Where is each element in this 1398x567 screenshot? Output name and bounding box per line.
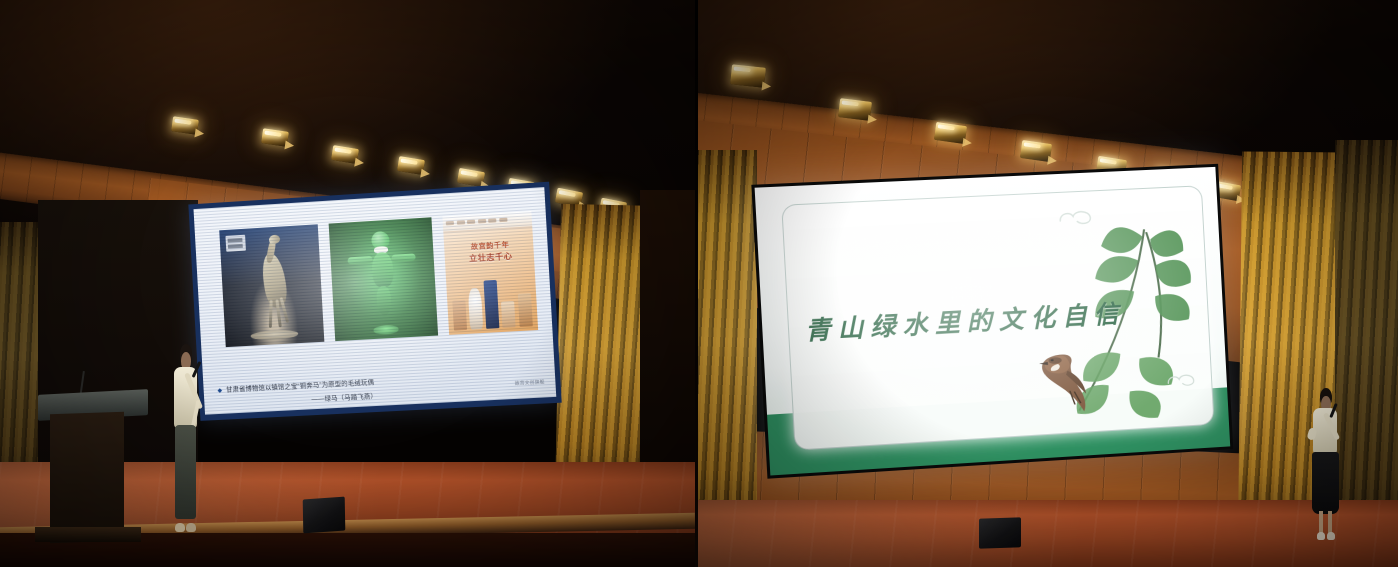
presenter-right-shoe <box>1317 532 1325 540</box>
product-item <box>484 280 500 328</box>
presenter-right-leg <box>1328 511 1332 534</box>
webpage-headline: 故宫韵千年 立壮志千心 <box>456 240 525 266</box>
stage-floor-monitor <box>303 497 346 534</box>
stage-light-1 <box>730 64 766 87</box>
lectern <box>28 392 148 542</box>
product-item <box>517 293 532 327</box>
left-projection-screen[interactable]: 故宫韵千年 立壮志千心 ◆ <box>188 182 561 421</box>
left-slide-text-block: ◆ 甘肃省博物馆以镇馆之宝“铜奔马”为原型的毛绒玩偶 ——绿马（马踏飞燕） <box>217 371 545 408</box>
presenter-left-shoe <box>175 523 185 532</box>
tv-channel-badge <box>225 235 246 253</box>
two-panel-photo-composite: 故宫韵千年 立壮志千心 ◆ <box>0 0 1398 567</box>
presenter-left-trousers <box>175 425 197 519</box>
stage-light-2 <box>838 98 872 121</box>
product-item <box>468 288 484 330</box>
panel-divider <box>695 0 698 567</box>
plush-torso <box>371 252 394 289</box>
horse-body-shape <box>259 251 289 308</box>
presenter-right-shoe <box>1327 532 1335 540</box>
horse-leg-shape <box>269 300 272 328</box>
green-plush-horse-toy-photo <box>328 217 438 341</box>
plush-arm-left <box>348 256 373 264</box>
webpage-product-row <box>451 278 532 330</box>
bronze-galloping-horse-museum-photo <box>219 224 324 347</box>
product-item <box>501 301 516 327</box>
cloud-swirl-icon-bottom <box>1163 370 1200 389</box>
presenter-left-shoe <box>186 523 196 532</box>
presenter-right-skirt <box>1312 452 1339 514</box>
lectern-base <box>35 527 141 542</box>
stage-floor-monitor <box>979 517 1021 548</box>
plush-arm-right <box>391 254 416 262</box>
horse-display-base <box>250 329 298 340</box>
sparrow-bird-icon <box>1030 344 1107 422</box>
left-slide-surface: 故宫韵千年 立壮志千心 ◆ <box>194 187 557 415</box>
presenter-right <box>1303 388 1349 540</box>
webpage-headline-line2: 立壮志千心 <box>457 250 526 266</box>
cloud-swirl-icon-top <box>1054 206 1096 228</box>
lectern-column <box>50 412 124 544</box>
right-stage-floor <box>695 500 1398 567</box>
palace-museum-cultural-creative-webpage: 故宫韵千年 立壮志千心 <box>442 211 538 335</box>
right-floor-reflection <box>695 500 1398 567</box>
right-photo-panel: 青山绿水里的文化自信 <box>695 0 1398 567</box>
bullet-marker-icon: ◆ <box>217 387 222 395</box>
right-slide-surface: 青山绿水里的文化自信 <box>755 167 1231 476</box>
presenter-right-leg <box>1319 511 1323 534</box>
right-stage-curtain-left <box>695 150 757 550</box>
left-photo-panel: 故宫韵千年 立壮志千心 ◆ <box>0 0 695 567</box>
webpage-headline-line1: 故宫韵千年 <box>471 242 510 251</box>
product-item <box>452 300 467 330</box>
right-projection-screen[interactable]: 青山绿水里的文化自信 <box>751 164 1233 479</box>
plush-stand <box>373 325 398 335</box>
webpage-nav-bar <box>442 211 532 233</box>
left-slide-image-row: 故宫韵千年 立壮志千心 <box>219 211 538 348</box>
presenter-left <box>160 344 212 532</box>
plush-tail <box>376 286 392 315</box>
